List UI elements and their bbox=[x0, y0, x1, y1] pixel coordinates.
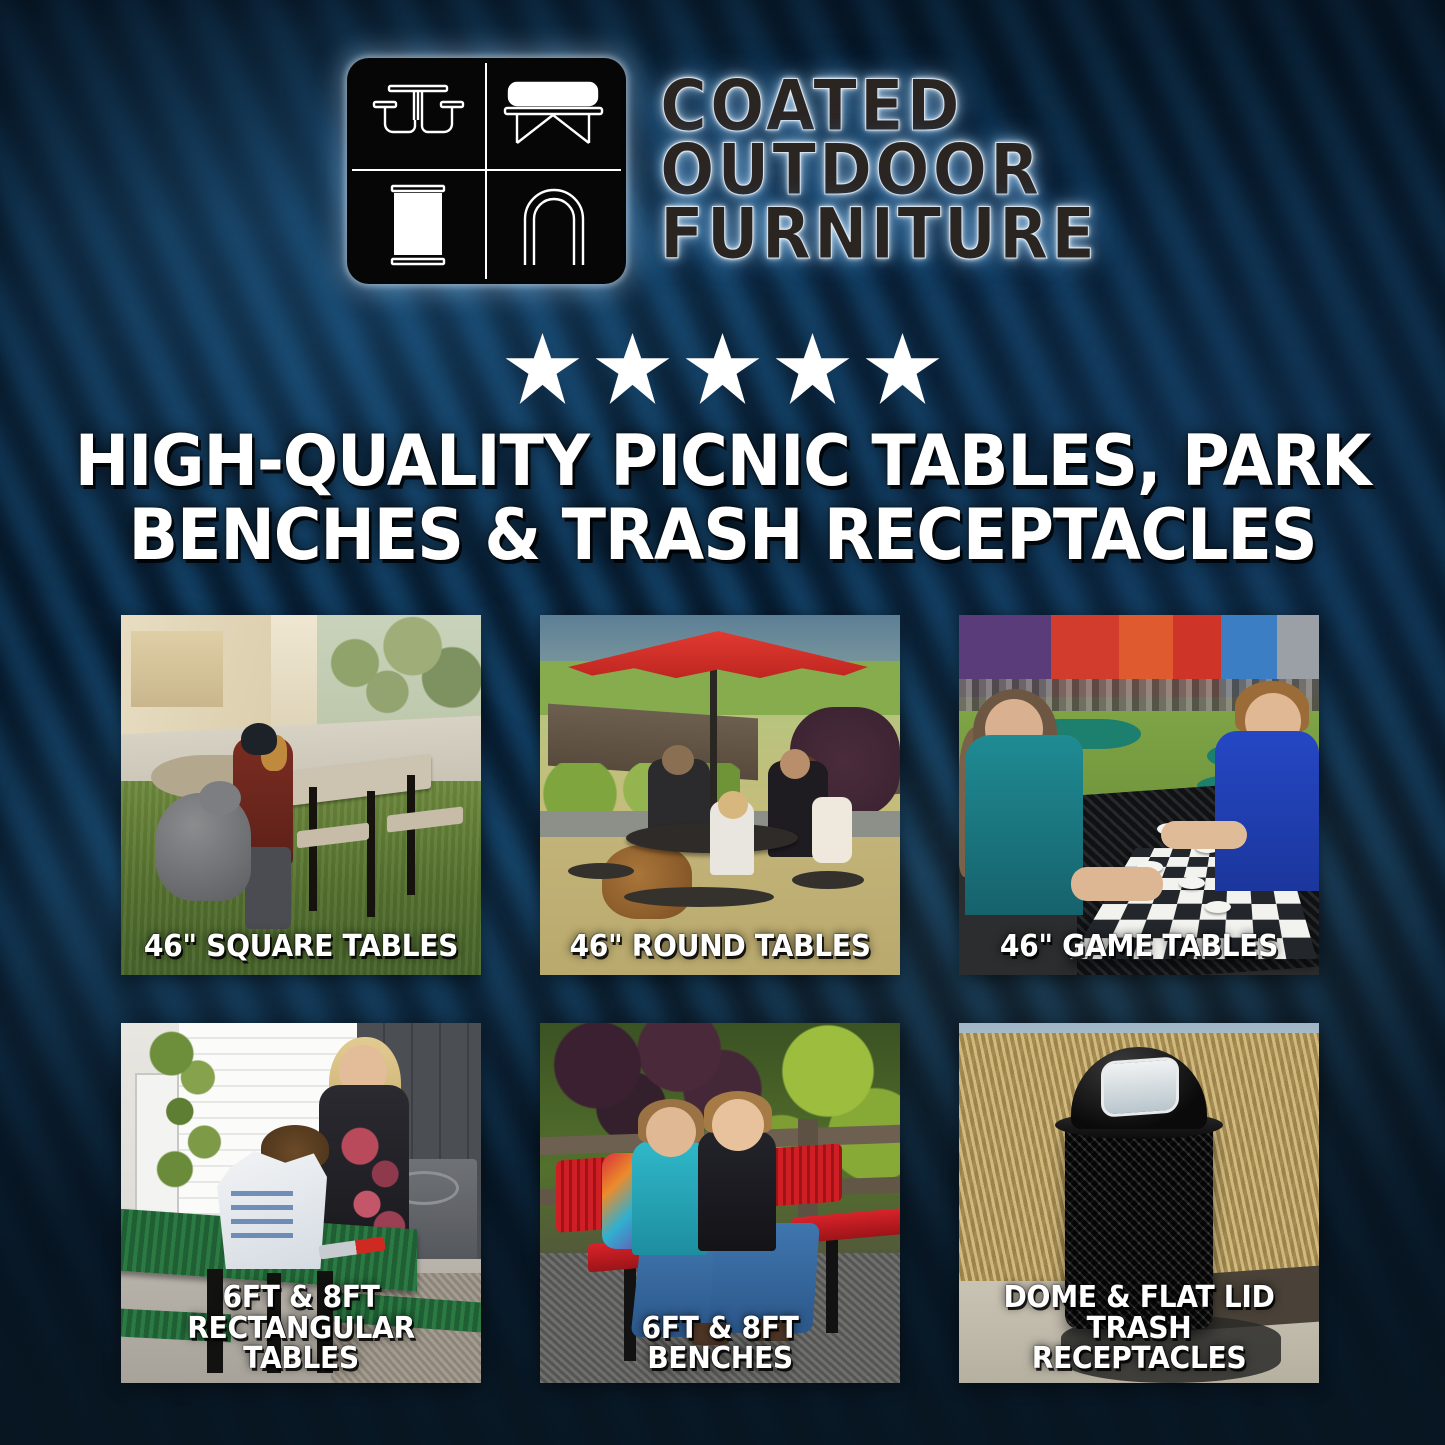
trash-receptacle-icon bbox=[352, 171, 487, 279]
product-photo-game-tables bbox=[959, 615, 1319, 975]
bench-table-icon bbox=[487, 63, 622, 171]
caption-line-1: 46" ROUND TABLES bbox=[556, 932, 883, 963]
product-tile-game-tables[interactable]: 46" GAME TABLES bbox=[959, 615, 1319, 975]
product-tile-benches[interactable]: 6FT & 8FT BENCHES bbox=[540, 1023, 900, 1383]
caption-line-2: RECTANGULAR TABLES bbox=[137, 1314, 464, 1375]
logo-mark bbox=[347, 58, 626, 284]
caption-line-1: 6FT & 8FT bbox=[137, 1283, 464, 1314]
rating-stars bbox=[0, 333, 1445, 404]
product-caption: 46" GAME TABLES bbox=[970, 932, 1308, 963]
brand-line-3: FURNITURE bbox=[660, 201, 1098, 269]
caption-line-2: TRASH RECEPTACLES bbox=[975, 1314, 1302, 1375]
product-tile-round-tables[interactable]: 46" ROUND TABLES bbox=[540, 615, 900, 975]
star-icon bbox=[596, 333, 670, 404]
star-icon bbox=[776, 333, 850, 404]
caption-line-1: 46" SQUARE TABLES bbox=[137, 932, 464, 963]
star-icon bbox=[506, 333, 580, 404]
bike-rack-icon bbox=[487, 171, 622, 279]
product-tile-trash-receptacles[interactable]: DOME & FLAT LID TRASH RECEPTACLES bbox=[959, 1023, 1319, 1383]
picnic-table-icon bbox=[352, 63, 487, 171]
product-photo-square-tables bbox=[121, 615, 481, 975]
caption-line-1: 6FT & 8FT bbox=[556, 1314, 883, 1345]
product-caption: 6FT & 8FT BENCHES bbox=[551, 1314, 889, 1375]
headline-line-2: BENCHES & TRASH RECEPTACLES bbox=[51, 498, 1395, 572]
page-title: HIGH-QUALITY PICNIC TABLES, PARK BENCHES… bbox=[51, 424, 1395, 572]
headline-line-1: HIGH-QUALITY PICNIC TABLES, PARK bbox=[51, 424, 1395, 498]
product-tile-square-tables[interactable]: 46" SQUARE TABLES bbox=[121, 615, 481, 975]
product-caption: 6FT & 8FT RECTANGULAR TABLES bbox=[132, 1283, 470, 1375]
caption-line-1: 46" GAME TABLES bbox=[975, 932, 1302, 963]
star-icon bbox=[686, 333, 760, 404]
brand-logo: COATED OUTDOOR FURNITURE bbox=[0, 58, 1445, 284]
brand-wordmark: COATED OUTDOOR FURNITURE bbox=[660, 76, 1098, 266]
star-icon bbox=[866, 333, 940, 404]
caption-line-1: DOME & FLAT LID bbox=[975, 1283, 1302, 1314]
caption-line-2: BENCHES bbox=[556, 1344, 883, 1375]
product-caption: DOME & FLAT LID TRASH RECEPTACLES bbox=[970, 1283, 1308, 1375]
product-caption: 46" ROUND TABLES bbox=[551, 932, 889, 963]
product-grid: 46" SQUARE TABLES 46" ROUND TABLES bbox=[121, 615, 1324, 1383]
product-photo-round-tables bbox=[540, 615, 900, 975]
product-tile-rectangular-tables[interactable]: 6FT & 8FT RECTANGULAR TABLES bbox=[121, 1023, 481, 1383]
product-caption: 46" SQUARE TABLES bbox=[132, 932, 470, 963]
